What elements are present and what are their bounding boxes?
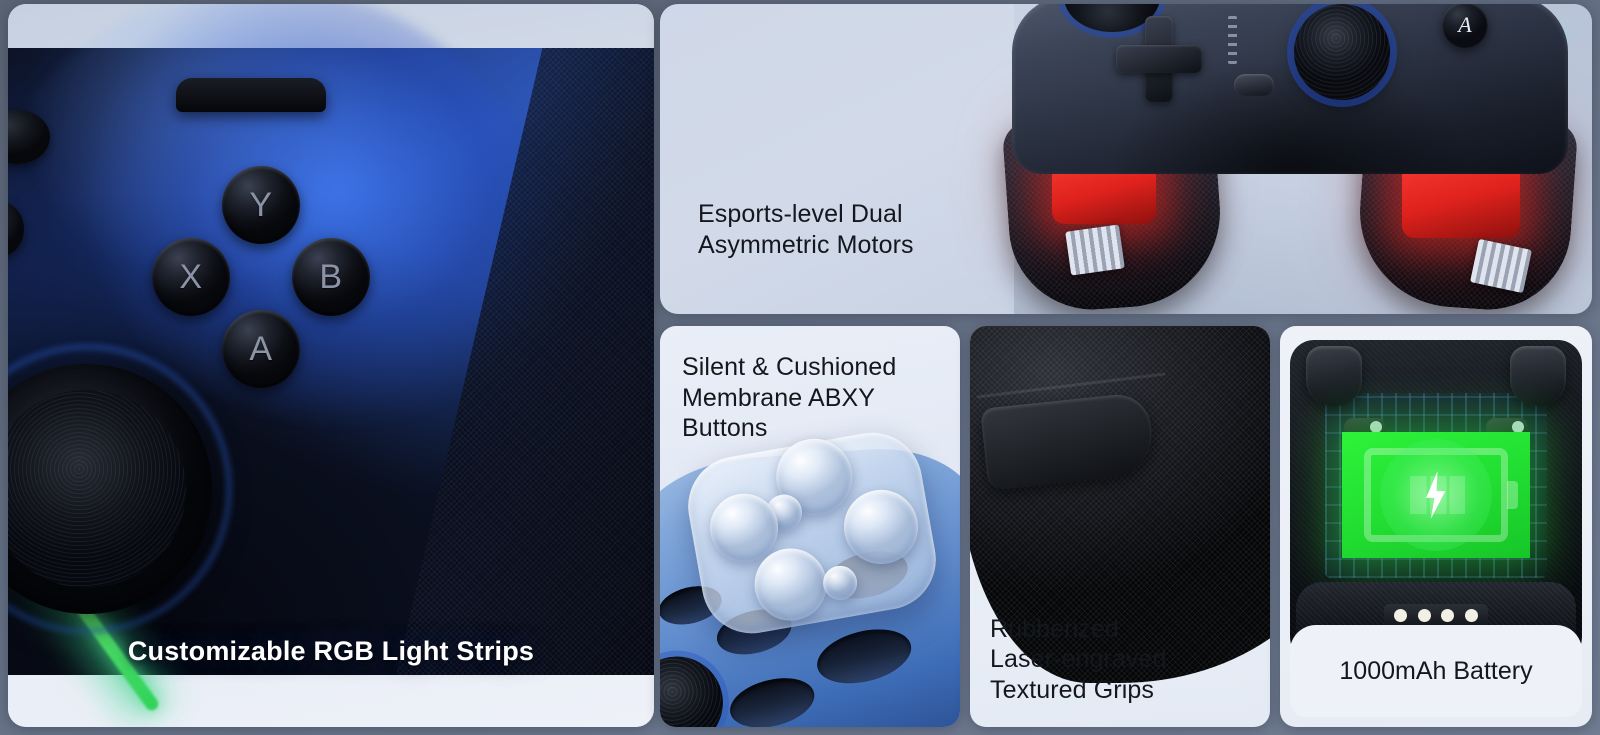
grips-caption-line2: Laser-engraved bbox=[990, 644, 1167, 675]
contact-pad-4 bbox=[1465, 609, 1478, 622]
button-b: B bbox=[292, 238, 370, 316]
button-y: Y bbox=[222, 166, 300, 244]
membrane-caption-line2: Membrane ABXY Buttons bbox=[682, 383, 960, 444]
controller-face-plate: A bbox=[1012, 4, 1568, 174]
controller-front-view: A bbox=[1012, 4, 1568, 308]
panel-membrane-abxy-buttons[interactable]: Silent & Cushioned Membrane ABXY Buttons bbox=[660, 326, 960, 727]
battery-indicator-graphic bbox=[1342, 432, 1530, 558]
charging-contact-pads bbox=[1384, 604, 1488, 626]
button-a: A bbox=[222, 310, 300, 388]
motors-caption-line1: Esports-level Dual bbox=[698, 199, 914, 230]
right-column: A Esports-level Dual Asymmetric Motors bbox=[660, 0, 1600, 735]
lightning-bolt-icon bbox=[1423, 471, 1449, 519]
analog-stick-partial bbox=[660, 653, 726, 727]
dpad bbox=[1116, 16, 1202, 102]
grips-caption-line1: Rubberized bbox=[990, 614, 1167, 645]
player-led-indicators bbox=[1228, 16, 1237, 64]
button-hole-2 bbox=[725, 670, 820, 727]
button-hole-3 bbox=[812, 621, 917, 693]
button-x: X bbox=[152, 238, 230, 316]
hero-caption: Customizable RGB Light Strips bbox=[8, 636, 654, 667]
shoulder-bumper bbox=[176, 78, 326, 112]
panel-rgb-light-strips[interactable]: Y X B A Customizable RGB Light Strips bbox=[8, 4, 654, 727]
bottom-card-row: Silent & Cushioned Membrane ABXY Buttons… bbox=[660, 326, 1592, 727]
motors-caption: Esports-level Dual Asymmetric Motors bbox=[698, 199, 914, 260]
grip-seam-line bbox=[977, 372, 1166, 398]
home-button bbox=[1234, 74, 1274, 96]
membrane-caption-line1: Silent & Cushioned bbox=[682, 352, 960, 383]
rear-trigger-left bbox=[1306, 346, 1362, 406]
grip-trigger-button bbox=[980, 391, 1156, 490]
hero-controller-photo: Y X B A bbox=[8, 48, 654, 675]
charging-glow-orb bbox=[1380, 439, 1492, 551]
abxy-button-cluster: Y X B A bbox=[146, 166, 376, 396]
motors-caption-line2: Asymmetric Motors bbox=[698, 230, 914, 261]
contact-pad-1 bbox=[1394, 609, 1407, 622]
rear-trigger-right bbox=[1510, 346, 1566, 406]
panel-dual-asymmetric-motors[interactable]: A Esports-level Dual Asymmetric Motors bbox=[660, 4, 1592, 314]
contact-pad-2 bbox=[1418, 609, 1431, 622]
battery-caption-footer: 1000mAh Battery bbox=[1290, 625, 1582, 717]
membrane-caption: Silent & Cushioned Membrane ABXY Buttons bbox=[682, 352, 960, 444]
feature-collage: Y X B A Customizable RGB Light Strips bbox=[0, 0, 1600, 735]
grips-caption: Rubberized Laser-engraved Textured Grips bbox=[990, 614, 1167, 706]
controller-rear-view bbox=[1290, 340, 1582, 670]
button-a-small: A bbox=[1442, 4, 1488, 48]
panel-battery[interactable]: 1000mAh Battery bbox=[1280, 326, 1592, 727]
analog-stick-right bbox=[1294, 4, 1390, 100]
contact-pad-3 bbox=[1441, 609, 1454, 622]
battery-caption: 1000mAh Battery bbox=[1339, 656, 1532, 687]
grips-caption-line3: Textured Grips bbox=[990, 675, 1167, 706]
motor-shaft-left bbox=[1065, 224, 1125, 275]
panel-textured-grips[interactable]: Rubberized Laser-engraved Textured Grips bbox=[970, 326, 1270, 727]
